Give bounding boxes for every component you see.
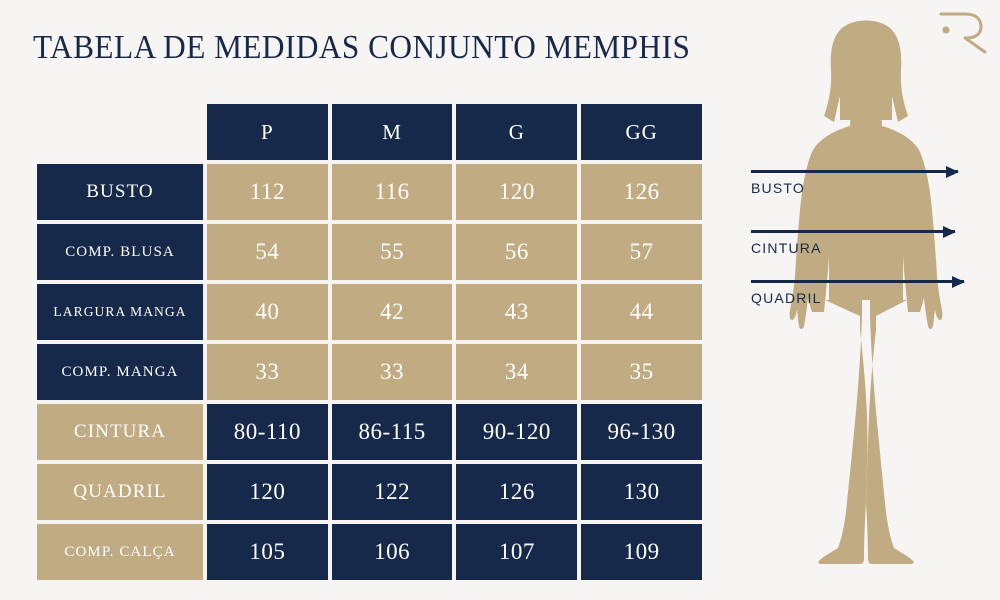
column-header-m: M — [332, 104, 453, 160]
table-corner-cell — [37, 104, 203, 160]
cell-r2-c3: 44 — [581, 284, 702, 340]
cell-r1-c2: 56 — [456, 224, 577, 280]
cell-r5-c3: 130 — [581, 464, 702, 520]
quadril-arrow-icon — [751, 280, 964, 283]
cell-r1-c1: 55 — [332, 224, 453, 280]
cell-r5-c1: 122 — [332, 464, 453, 520]
cintura-label: CINTURA — [751, 240, 955, 256]
size-chart-table: P M G GG BUSTO112116120126COMP. BLUSA545… — [33, 100, 706, 584]
cell-r2-c0: 40 — [207, 284, 328, 340]
cell-r5-c0: 120 — [207, 464, 328, 520]
row-label-4: CINTURA — [37, 404, 203, 460]
cell-r1-c3: 57 — [581, 224, 702, 280]
cell-r1-c0: 54 — [207, 224, 328, 280]
measurement-cintura: CINTURA — [751, 230, 955, 256]
cell-r2-c1: 42 — [332, 284, 453, 340]
busto-label: BUSTO — [751, 180, 958, 196]
busto-arrow-icon — [751, 170, 958, 173]
table-row: QUADRIL120122126130 — [37, 464, 702, 520]
row-label-3: COMP. MANGA — [37, 344, 203, 400]
page-title: TABELA DE MEDIDAS CONJUNTO MEMPHIS — [33, 28, 690, 68]
cintura-arrow-icon — [751, 230, 955, 233]
cell-r6-c2: 107 — [456, 524, 577, 580]
row-label-text: CINTURA — [74, 421, 166, 442]
cell-r0-c3: 126 — [581, 164, 702, 220]
row-label-text: COMP. MANGA — [61, 364, 178, 380]
row-label-0: BUSTO — [37, 164, 203, 220]
cell-r0-c1: 116 — [332, 164, 453, 220]
table-header: P M G GG — [37, 104, 702, 160]
measurement-quadril: QUADRIL — [751, 280, 964, 306]
table-row: COMP. MANGA33333435 — [37, 344, 702, 400]
table-row: COMP. CALÇA105106107109 — [37, 524, 702, 580]
cell-r5-c2: 126 — [456, 464, 577, 520]
cell-r0-c0: 112 — [207, 164, 328, 220]
table-row: CINTURA80-11086-11590-12096-130 — [37, 404, 702, 460]
cell-r2-c2: 43 — [456, 284, 577, 340]
cell-r3-c2: 34 — [456, 344, 577, 400]
row-label-1: COMP. BLUSA — [37, 224, 203, 280]
column-header-g: G — [456, 104, 577, 160]
row-label-text: COMP. BLUSA — [65, 244, 175, 260]
measurement-busto: BUSTO — [751, 170, 958, 196]
cell-r4-c0: 80-110 — [207, 404, 328, 460]
row-label-2: LARGURA MANGA — [37, 284, 203, 340]
quadril-label: QUADRIL — [751, 290, 964, 306]
table-row: BUSTO112116120126 — [37, 164, 702, 220]
row-label-text: QUADRIL — [73, 481, 166, 502]
cell-r3-c1: 33 — [332, 344, 453, 400]
cell-r3-c3: 35 — [581, 344, 702, 400]
row-label-text: COMP. CALÇA — [64, 544, 175, 560]
row-label-6: COMP. CALÇA — [37, 524, 203, 580]
cell-r3-c0: 33 — [207, 344, 328, 400]
cell-r0-c2: 120 — [456, 164, 577, 220]
cell-r6-c3: 109 — [581, 524, 702, 580]
table-header-row: P M G GG — [37, 104, 702, 160]
table-row: LARGURA MANGA40424344 — [37, 284, 702, 340]
cell-r6-c0: 105 — [207, 524, 328, 580]
row-label-text: LARGURA MANGA — [53, 304, 186, 319]
cell-r6-c1: 106 — [332, 524, 453, 580]
column-header-gg: GG — [581, 104, 702, 160]
cell-r4-c1: 86-115 — [332, 404, 453, 460]
cell-r4-c2: 90-120 — [456, 404, 577, 460]
cell-r4-c3: 96-130 — [581, 404, 702, 460]
table-row: COMP. BLUSA54555657 — [37, 224, 702, 280]
table-body: BUSTO112116120126COMP. BLUSA54555657LARG… — [37, 164, 702, 580]
row-label-text: BUSTO — [86, 181, 153, 202]
row-label-5: QUADRIL — [37, 464, 203, 520]
column-header-p: P — [207, 104, 328, 160]
figure-panel: BUSTO CINTURA QUADRIL — [720, 0, 1000, 600]
